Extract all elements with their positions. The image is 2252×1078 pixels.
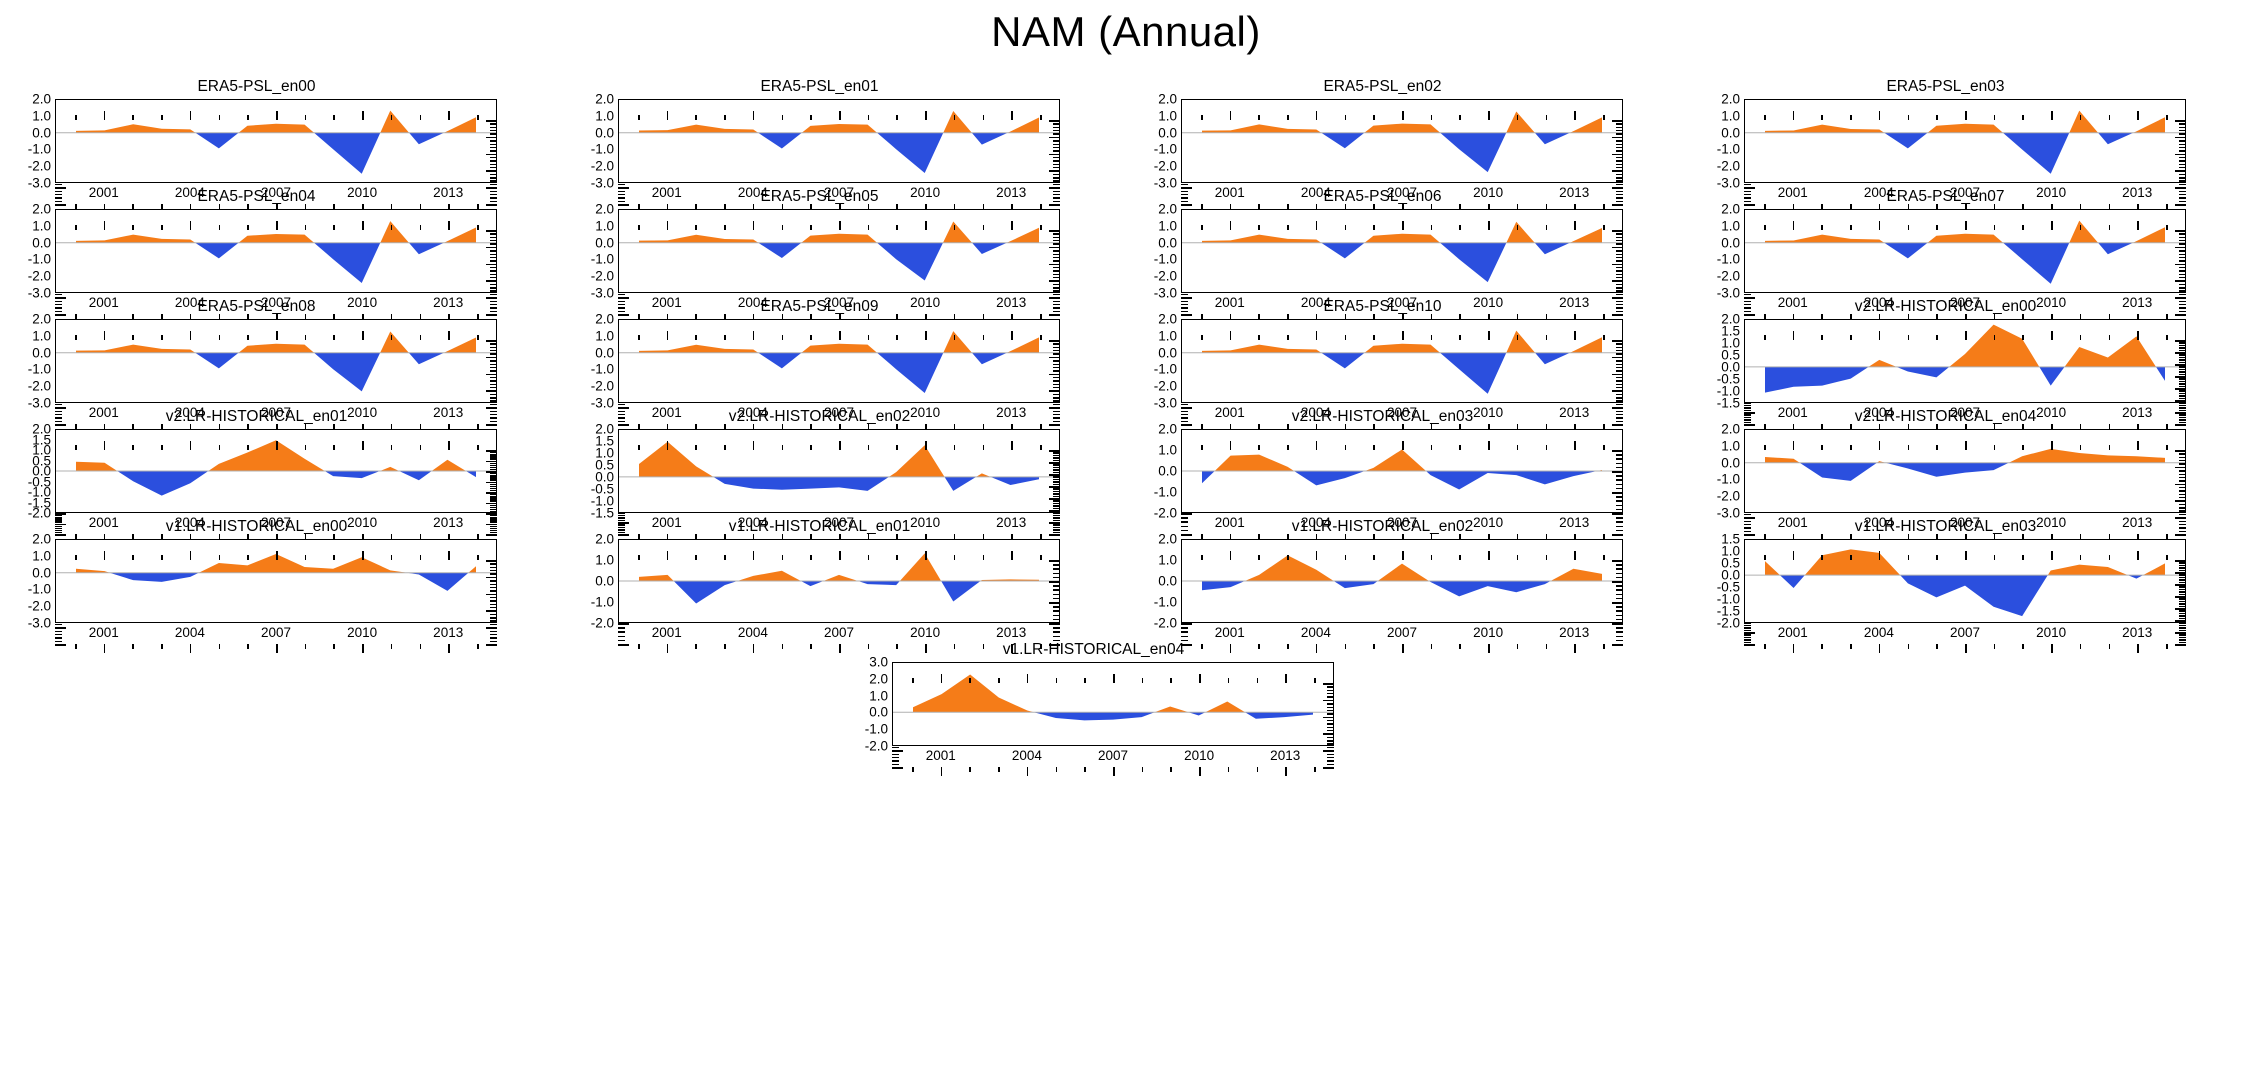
y-tick-minor-right (490, 509, 497, 510)
y-tick-minor-right (490, 614, 497, 615)
y-tick-label: -2.0 (28, 379, 51, 393)
y-tick-minor-right (490, 580, 497, 581)
y-tick-minor (1744, 514, 1751, 515)
y-tick-minor-right (1327, 747, 1334, 748)
y-tick-minor-right (2179, 270, 2186, 271)
y-tick-minor-right (1616, 404, 1623, 405)
y-tick-minor-right (2179, 490, 2186, 491)
y-tick-minor-right (490, 387, 497, 388)
y-tick-label: 0.0 (1721, 456, 1740, 470)
y-tick-label: -1.0 (1717, 143, 1740, 157)
positive-area (1202, 449, 1602, 489)
y-tick-minor-right (2179, 184, 2186, 185)
positive-area (1765, 111, 2165, 174)
y-tick-minor (55, 294, 62, 295)
y-tick-minor-right (2179, 250, 2186, 251)
y-tick-minor-right (490, 450, 497, 451)
x-tick-label: 2001 (89, 626, 119, 640)
y-tick-minor-right (2179, 257, 2186, 258)
y-tick-minor-right (1616, 150, 1623, 151)
y-tick-minor-right (490, 594, 497, 595)
y-tick-minor-right (2179, 474, 2186, 475)
negative-area (1765, 221, 2165, 284)
y-tick-minor-right (1616, 377, 1623, 378)
y-tick-minor-right (1053, 184, 1060, 185)
panel-title: ERA5-PSL_en03 (1697, 78, 2194, 96)
y-tick-minor-right (1616, 589, 1623, 590)
y-tick-minor-right (1053, 137, 1060, 138)
y-tick-minor (55, 624, 62, 625)
negative-area (1765, 111, 2165, 174)
y-tick-minor (1181, 623, 1188, 624)
y-tick-minor-right (490, 230, 497, 231)
y-tick-minor-right (1616, 277, 1623, 278)
x-tick-label: 2010 (1184, 749, 1214, 763)
y-tick-minor-right (490, 507, 497, 508)
panel-title: ERA5-PSL_en05 (571, 188, 1068, 206)
y-tick-minor-right (490, 475, 497, 476)
y-tick-minor-right (1616, 505, 1623, 506)
y-tick-minor-right (2179, 130, 2186, 131)
panel-title: v2.LR-HISTORICAL_en03 (1134, 408, 1631, 426)
y-tick-minor-right (1616, 147, 1623, 148)
y-tick-minor-right (1616, 594, 1623, 595)
panel-title: v2.LR-HISTORICAL_en01 (8, 408, 505, 426)
y-tick-minor-right (490, 587, 497, 588)
y-tick-minor-right (1053, 267, 1060, 268)
y-tick-minor-right (490, 377, 497, 378)
y-tick-minor-right (490, 370, 497, 371)
plot-area (1744, 429, 2186, 513)
y-tick-label: -1.0 (1154, 253, 1177, 267)
y-tick-minor-right (490, 494, 497, 495)
y-tick-minor-right (1616, 606, 1623, 607)
plot-area (1181, 539, 1623, 623)
y-tick-minor-right (490, 469, 497, 470)
y-tick-minor-right (1053, 250, 1060, 251)
y-tick-minor-right (490, 137, 497, 138)
y-tick-minor-right (490, 127, 497, 128)
y-tick-minor (1744, 184, 1751, 185)
y-tick-minor-right (1616, 598, 1623, 599)
plot-wrapper: 2.01.00.0-1.0-2.0-3.0 (1697, 429, 2194, 513)
y-tick-minor-right (1616, 374, 1623, 375)
y-tick-minor-right (2179, 264, 2186, 265)
x-tick-label: 2007 (1387, 626, 1417, 640)
y-tick-minor-right (1616, 120, 1623, 121)
y-tick-minor-right (490, 560, 497, 561)
y-tick-minor-right (490, 492, 497, 493)
y-tick-minor-right (2179, 357, 2186, 358)
y-tick-minor-right (490, 240, 497, 241)
y-tick-minor-right (490, 164, 497, 165)
y-tick-minor-right (2179, 157, 2186, 158)
y-tick-minor-right (2179, 267, 2186, 268)
y-tick-minor-right (1053, 353, 1060, 354)
y-tick-minor-right (2179, 247, 2186, 248)
panel-title: v2.LR-HISTORICAL_en00 (1697, 298, 2194, 316)
plot-wrapper: 2.01.00.0-1.0-2.0-3.0 (8, 209, 505, 293)
y-tick-minor-right (2179, 174, 2186, 175)
y-tick-minor-right (1616, 573, 1623, 574)
y-tick-minor-right (1053, 510, 1060, 511)
y-tick-minor-right (1327, 737, 1334, 738)
plot-wrapper: 2.01.51.00.50.0-0.5-1.0-1.5 (571, 429, 1068, 513)
y-tick-minor-right (1616, 509, 1623, 510)
y-tick-minor-right (2179, 398, 2186, 399)
y-tick-label: 0.0 (1158, 126, 1177, 140)
y-tick-minor-right (490, 157, 497, 158)
y-tick-minor-right (1616, 144, 1623, 145)
y-tick-minor-right (490, 620, 497, 621)
y-tick-label: -3.0 (28, 616, 51, 630)
x-tick-label: 2001 (1778, 626, 1808, 640)
y-tick-minor-right (1053, 464, 1060, 465)
y-tick-minor-right (1053, 170, 1060, 171)
y-tick-minor-right (2179, 123, 2186, 124)
y-tick-minor-right (490, 511, 497, 512)
y-tick-minor-right (1053, 619, 1060, 620)
y-tick-label: 0.0 (595, 574, 614, 588)
y-tick-minor-right (490, 343, 497, 344)
y-tick-minor-right (2179, 254, 2186, 255)
y-tick-minor-right (490, 513, 497, 514)
y-tick-label: 0.0 (1158, 236, 1177, 250)
y-tick-minor-right (1053, 568, 1060, 569)
y-tick-minor-right (1327, 700, 1334, 701)
x-axis-labels: 20012004200720102013 (1744, 626, 2186, 646)
y-tick-label: -2.0 (591, 379, 614, 393)
y-tick-minor (1181, 294, 1188, 295)
y-tick-minor-right (1053, 343, 1060, 344)
y-tick-minor-right (2179, 240, 2186, 241)
y-axis-labels: 2.01.51.00.50.0-0.5-1.0-1.5 (1697, 319, 1743, 403)
y-tick-minor-right (1053, 560, 1060, 561)
y-tick-minor-right (490, 503, 497, 504)
y-tick-minor-right (490, 624, 497, 625)
y-tick-minor-right (1053, 503, 1060, 504)
y-tick-minor-right (2179, 150, 2186, 151)
y-tick-minor (55, 513, 62, 514)
y-tick-minor-right (490, 350, 497, 351)
y-tick-minor-right (2179, 601, 2186, 602)
y-tick-minor-right (1053, 130, 1060, 131)
y-tick-minor-right (1616, 267, 1623, 268)
panel-title: v1.LR-HISTORICAL_en00 (8, 518, 505, 536)
y-tick-minor-right (2179, 615, 2186, 616)
y-tick-minor-right (2179, 120, 2186, 121)
y-tick-minor-right (2179, 383, 2186, 384)
y-tick-minor-right (1053, 476, 1060, 477)
y-tick-minor-right (2179, 364, 2186, 365)
y-tick-label: 1.0 (1721, 109, 1740, 123)
y-tick-minor-right (1616, 254, 1623, 255)
y-tick-minor-right (1327, 730, 1334, 731)
y-tick-minor-right (1053, 496, 1060, 497)
y-tick-minor-right (1616, 488, 1623, 489)
x-tick-label: 2013 (2122, 626, 2152, 640)
y-axis-labels: 1.51.00.50.0-0.5-1.0-1.5-2.0 (1697, 539, 1743, 623)
y-tick-minor-right (1053, 589, 1060, 590)
y-tick-minor-right (2179, 598, 2186, 599)
y-axis-labels: 2.01.00.0-1.0-2.0-3.0 (571, 209, 617, 293)
y-tick-minor-right (2179, 340, 2186, 341)
y-tick-minor-right (490, 490, 497, 491)
y-tick-minor-right (1616, 585, 1623, 586)
y-tick-minor-right (490, 264, 497, 265)
y-tick-minor-right (2179, 371, 2186, 372)
y-tick-minor-right (1053, 367, 1060, 368)
y-tick-minor-right (1053, 452, 1060, 453)
y-tick-minor (1181, 513, 1188, 514)
y-tick-minor (55, 184, 62, 185)
y-tick-minor-right (2179, 274, 2186, 275)
negative-area (639, 442, 1039, 491)
y-tick-minor-right (1053, 167, 1060, 168)
y-tick-minor-right (1053, 237, 1060, 238)
y-tick-label: -2.0 (1154, 616, 1177, 630)
negative-area (1765, 449, 2165, 481)
y-tick-minor-right (2179, 376, 2186, 377)
y-tick-minor-right (2179, 608, 2186, 609)
y-tick-label: 2.0 (869, 672, 888, 686)
y-tick-minor-right (490, 357, 497, 358)
y-axis-labels: 2.01.51.00.50.0-0.5-1.0-1.5 (571, 429, 617, 513)
plot-wrapper: 2.01.00.0-1.0-2.0-3.0 (8, 319, 505, 403)
y-tick-minor-right (1616, 133, 1623, 134)
y-tick-minor-right (1616, 257, 1623, 258)
y-tick-minor-right (490, 471, 497, 472)
y-tick-minor-right (1053, 257, 1060, 258)
y-tick-minor-right (1616, 230, 1623, 231)
y-tick-minor-right (1053, 467, 1060, 468)
y-tick-label: 2.0 (32, 202, 51, 216)
y-tick-label: 1.0 (595, 553, 614, 567)
y-tick-label: 1.0 (869, 689, 888, 703)
y-tick-minor-right (2179, 610, 2186, 611)
y-tick-minor-right (1616, 463, 1623, 464)
y-tick-label: 1.0 (1158, 553, 1177, 567)
y-tick-minor-right (2179, 362, 2186, 363)
y-tick-label: 2.0 (32, 532, 51, 546)
y-tick-minor-right (1053, 243, 1060, 244)
plot-wrapper: 2.01.51.00.50.0-0.5-1.0-1.5-2.0 (8, 429, 505, 513)
y-tick-minor-right (1616, 274, 1623, 275)
y-tick-label: 0.0 (595, 346, 614, 360)
y-tick-minor-right (490, 367, 497, 368)
y-tick-minor-right (490, 130, 497, 131)
y-tick-minor-right (490, 270, 497, 271)
y-tick-minor-right (490, 267, 497, 268)
y-tick-label: 2.0 (32, 92, 51, 106)
y-axis-labels: 2.01.00.0-1.0-2.0-3.0 (571, 99, 617, 183)
y-tick-minor-right (490, 484, 497, 485)
y-tick-minor-right (1053, 164, 1060, 165)
y-tick-label: 1.0 (1158, 443, 1177, 457)
plot-wrapper: 2.01.00.0-1.0-2.0-3.0 (571, 209, 1068, 293)
y-tick-minor-right (490, 563, 497, 564)
y-tick-minor-right (2179, 453, 2186, 454)
plot-area (1744, 539, 2186, 623)
y-tick-label: -2.0 (1717, 616, 1740, 630)
y-tick-minor-right (490, 140, 497, 141)
y-tick-minor-right (2179, 167, 2186, 168)
y-tick-minor-right (1616, 619, 1623, 620)
y-tick-minor-right (490, 380, 497, 381)
y-tick-minor-right (490, 500, 497, 501)
y-tick-minor-right (1616, 367, 1623, 368)
y-tick-minor-right (2179, 460, 2186, 461)
y-tick-minor-right (1053, 240, 1060, 241)
y-tick-minor (618, 294, 625, 295)
y-tick-minor-right (490, 247, 497, 248)
panel-title: ERA5-PSL_en08 (8, 298, 505, 316)
y-tick-minor-right (1053, 127, 1060, 128)
plot-area (1181, 429, 1623, 513)
y-tick-minor-right (1616, 160, 1623, 161)
negative-area (639, 221, 1039, 280)
y-tick-label: -2.0 (591, 159, 614, 173)
y-tick-minor-right (1616, 294, 1623, 295)
y-tick-minor-right (490, 461, 497, 462)
y-tick-minor-right (1616, 123, 1623, 124)
y-tick-minor-right (490, 590, 497, 591)
y-axis-labels: 2.01.00.0-1.0-2.0-3.0 (1134, 319, 1180, 403)
y-tick-minor (892, 747, 899, 748)
y-tick-minor-right (1053, 144, 1060, 145)
y-tick-minor-right (1616, 479, 1623, 480)
y-tick-minor-right (1053, 577, 1060, 578)
y-tick-label: -2.0 (1717, 159, 1740, 173)
y-tick-label: 0.0 (32, 566, 51, 580)
y-tick-label: 0.0 (1158, 574, 1177, 588)
y-tick-minor-right (2179, 591, 2186, 592)
y-tick-minor-right (2179, 507, 2186, 508)
y-tick-minor-right (1616, 137, 1623, 138)
y-tick-minor-right (1053, 287, 1060, 288)
panel-title: ERA5-PSL_en07 (1697, 188, 2194, 206)
y-tick-minor-right (490, 498, 497, 499)
y-tick-minor-right (1616, 564, 1623, 565)
y-tick-label: -1.0 (591, 363, 614, 377)
x-tick-label: 2004 (738, 626, 768, 640)
y-tick-minor-right (1053, 404, 1060, 405)
y-axis-labels: 2.01.00.0-1.0-2.0 (571, 539, 617, 623)
y-tick-minor-right (2179, 467, 2186, 468)
y-tick-minor-right (490, 400, 497, 401)
y-tick-minor-right (1053, 247, 1060, 248)
plot-wrapper: 2.01.00.0-1.0-2.0-3.0 (571, 99, 1068, 183)
y-tick-label: -2.0 (1717, 489, 1740, 503)
y-tick-minor-right (490, 257, 497, 258)
negative-area (1202, 111, 1602, 172)
positive-area (1202, 331, 1602, 394)
y-tick-minor-right (490, 477, 497, 478)
y-tick-label: 2.0 (595, 312, 614, 326)
panel-title: ERA5-PSL_en10 (1134, 298, 1631, 316)
x-tick-label: 2001 (1215, 626, 1245, 640)
y-tick-label: -2.0 (28, 599, 51, 613)
y-tick-minor-right (1053, 623, 1060, 624)
y-tick-minor-right (1327, 733, 1334, 734)
negative-area (76, 331, 476, 391)
y-tick-minor-right (1616, 496, 1623, 497)
plot-area (1744, 319, 2186, 403)
y-tick-minor-right (1053, 491, 1060, 492)
y-tick-minor-right (1616, 467, 1623, 468)
y-tick-minor-right (2179, 584, 2186, 585)
y-tick-minor-right (1053, 585, 1060, 586)
plot-area (892, 662, 1334, 746)
y-tick-label: -1.0 (28, 143, 51, 157)
y-tick-minor-right (1053, 157, 1060, 158)
x-axis-labels: 20012004200720102013 (55, 626, 497, 646)
y-tick-minor-right (2179, 359, 2186, 360)
y-tick-minor-right (2179, 477, 2186, 478)
y-tick-minor (1181, 404, 1188, 405)
y-tick-minor-right (2179, 497, 2186, 498)
y-tick-minor-right (1616, 581, 1623, 582)
y-tick-minor-right (490, 482, 497, 483)
y-tick-minor-right (1053, 150, 1060, 151)
plot-area (1744, 99, 2186, 183)
y-tick-minor-right (2179, 137, 2186, 138)
x-tick-label: 2010 (2036, 626, 2066, 640)
y-tick-minor-right (490, 160, 497, 161)
y-tick-minor-right (1053, 260, 1060, 261)
y-tick-minor-right (2179, 381, 2186, 382)
plot-wrapper: 2.01.00.0-1.0-2.0 (1134, 539, 1631, 623)
y-tick-minor-right (1616, 454, 1623, 455)
y-tick-label: 1.0 (595, 109, 614, 123)
y-tick-label: 0.0 (869, 706, 888, 720)
y-tick-label: -2.0 (591, 269, 614, 283)
y-tick-minor-right (1053, 498, 1060, 499)
y-tick-minor-right (1616, 500, 1623, 501)
positive-area (639, 331, 1039, 393)
plot-wrapper: 2.01.00.0-1.0-2.0-3.0 (571, 319, 1068, 403)
x-tick-label: 2010 (910, 626, 940, 640)
plot-area (618, 539, 1060, 623)
y-axis-labels: 2.01.00.0-1.0-2.0-3.0 (571, 319, 617, 403)
y-tick-minor-right (2179, 144, 2186, 145)
y-tick-minor-right (1053, 233, 1060, 234)
y-tick-minor-right (1616, 140, 1623, 141)
y-tick-minor-right (1616, 264, 1623, 265)
y-tick-minor-right (2179, 603, 2186, 604)
y-tick-label: 1.0 (1721, 439, 1740, 453)
y-tick-minor-right (2179, 450, 2186, 451)
y-tick-minor-right (1616, 492, 1623, 493)
y-tick-minor-right (2179, 470, 2186, 471)
y-tick-label: -1.0 (1154, 363, 1177, 377)
y-tick-minor-right (490, 584, 497, 585)
y-tick-minor-right (2179, 572, 2186, 573)
y-tick-label: 1.0 (1158, 219, 1177, 233)
y-tick-minor-right (2179, 594, 2186, 595)
y-tick-minor-right (2179, 294, 2186, 295)
y-tick-minor-right (490, 577, 497, 578)
y-tick-minor-right (1616, 250, 1623, 251)
y-tick-minor-right (1053, 290, 1060, 291)
y-tick-minor-right (490, 463, 497, 464)
panel-title: v1.LR-HISTORICAL_en04 (845, 641, 1342, 659)
y-tick-minor-right (2179, 494, 2186, 495)
y-tick-minor-right (1616, 370, 1623, 371)
y-tick-minor-right (1616, 484, 1623, 485)
y-tick-minor-right (490, 465, 497, 466)
negative-area (639, 331, 1039, 393)
